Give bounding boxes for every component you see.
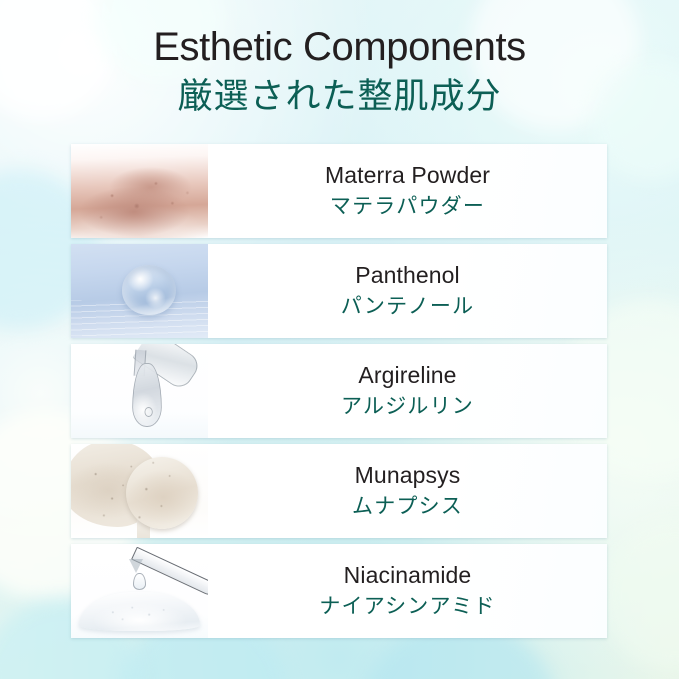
ingredient-row: Munapsys ムナプシス (71, 444, 607, 538)
ingredient-thumbnail-argireline (71, 344, 208, 438)
poster-header: Esthetic Components 厳選された整肌成分 (0, 0, 679, 118)
serum-drop-icon (71, 344, 208, 438)
ingredient-name-japanese: ナイアシンアミド (319, 590, 495, 620)
ingredient-name-japanese: パンテノール (341, 290, 475, 320)
ingredient-name-japanese: ムナプシス (352, 490, 463, 520)
serum-teardrop (132, 363, 162, 427)
ingredient-label: Munapsys ムナプシス (208, 444, 607, 538)
ingredient-thumbnail-munapsys (71, 444, 208, 538)
page-title-japanese: 厳選された整肌成分 (0, 72, 679, 118)
ingredient-row: Niacinamide ナイアシンアミド (71, 544, 607, 638)
ingredient-label: Panthenol パンテノール (208, 244, 607, 338)
page-title-english: Esthetic Components (0, 0, 679, 72)
white-powder-dropper-icon (71, 544, 208, 638)
ingredient-list: Materra Powder マテラパウダー Panthenol パンテノール (71, 144, 607, 638)
ingredient-thumbnail-materra-powder (71, 144, 208, 238)
ingredient-row: Argireline アルジルリン (71, 344, 607, 438)
ingredient-row: Materra Powder マテラパウダー (71, 144, 607, 238)
ingredient-thumbnail-niacinamide (71, 544, 208, 638)
bokeh-circle (600, 520, 679, 670)
pipette-tip (129, 559, 143, 573)
ingredient-name-japanese: マテラパウダー (330, 190, 485, 220)
ingredient-row: Panthenol パンテノール (71, 244, 607, 338)
falling-droplet (133, 573, 146, 590)
powder-speckles (71, 444, 208, 538)
droplet-sphere (122, 265, 176, 315)
ingredient-thumbnail-panthenol (71, 244, 208, 338)
ingredient-name-english: Argireline (358, 361, 456, 390)
ingredient-name-english: Materra Powder (325, 161, 490, 190)
ingredient-name-english: Munapsys (355, 461, 461, 490)
ingredient-name-japanese: アルジルリン (341, 390, 474, 420)
ingredient-label: Niacinamide ナイアシンアミド (208, 544, 607, 638)
water-droplet-icon (71, 244, 208, 338)
ingredient-name-english: Niacinamide (344, 561, 472, 590)
rose-powder-icon (71, 144, 208, 238)
esthetic-components-poster: Esthetic Components 厳選された整肌成分 Materra Po… (0, 0, 679, 679)
ingredient-label: Materra Powder マテラパウダー (208, 144, 607, 238)
ingredient-label: Argireline アルジルリン (208, 344, 607, 438)
ingredient-name-english: Panthenol (355, 261, 460, 290)
clay-powder-icon (71, 444, 208, 538)
powder-mound (79, 592, 200, 631)
